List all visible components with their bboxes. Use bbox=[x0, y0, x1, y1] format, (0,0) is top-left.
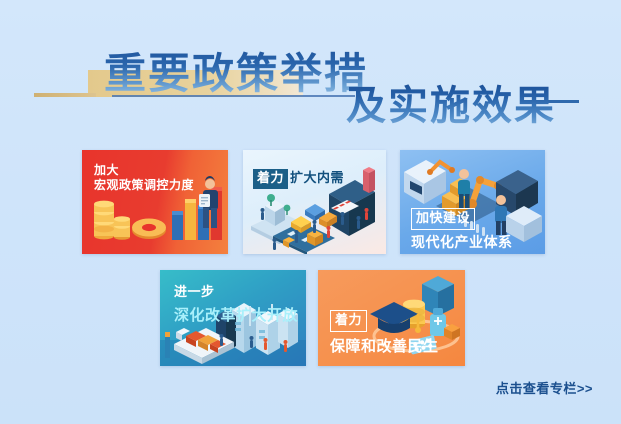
card5-label: 着力 保障和改善民生 bbox=[330, 310, 439, 356]
card1-label: 加大 宏观政策调控力度 bbox=[94, 163, 194, 194]
card5-label-badge: 着力 bbox=[330, 310, 367, 332]
page-title-line-1: 重要政策举措 bbox=[104, 40, 368, 101]
card2-label-badge: 着力 bbox=[253, 169, 288, 189]
card2-illustration bbox=[243, 150, 386, 254]
card4-label-line-1: 进一步 bbox=[174, 284, 215, 299]
card3-label: 加快建设 现代化产业体系 bbox=[411, 208, 513, 252]
card4-label: 进一步 深化改革扩大开放 bbox=[174, 284, 298, 325]
title-gold-rule bbox=[34, 93, 96, 97]
card1-label-line-2: 宏观政策调控力度 bbox=[94, 178, 194, 192]
policy-card-expand-demand[interactable]: 着力扩大内需 bbox=[243, 150, 386, 254]
card2-label: 着力扩大内需 bbox=[253, 169, 344, 189]
view-column-link[interactable]: 点击查看专栏>> bbox=[496, 378, 593, 397]
card5-label-line-2: 保障和改善民生 bbox=[330, 337, 439, 356]
card2-label-rest: 扩大内需 bbox=[290, 170, 344, 185]
card4-label-line-2: 深化改革扩大开放 bbox=[174, 306, 298, 325]
card3-label-line-2: 现代化产业体系 bbox=[411, 234, 513, 252]
poster-canvas: 重要政策举措 及实施效果 bbox=[0, 0, 621, 424]
card3-label-line-1: 加快建设 bbox=[411, 208, 475, 230]
policy-card-macro-control[interactable]: 加大 宏观政策调控力度 bbox=[82, 150, 228, 254]
card1-label-line-1: 加大 bbox=[94, 163, 119, 177]
policy-card-peoples-livelihood[interactable]: 着力 保障和改善民生 bbox=[318, 270, 465, 366]
policy-card-reform-opening[interactable]: 进一步 深化改革扩大开放 bbox=[160, 270, 306, 366]
page-title-line-2: 及实施效果 bbox=[346, 73, 556, 131]
policy-card-modern-industry[interactable]: 加快建设 现代化产业体系 bbox=[400, 150, 545, 254]
